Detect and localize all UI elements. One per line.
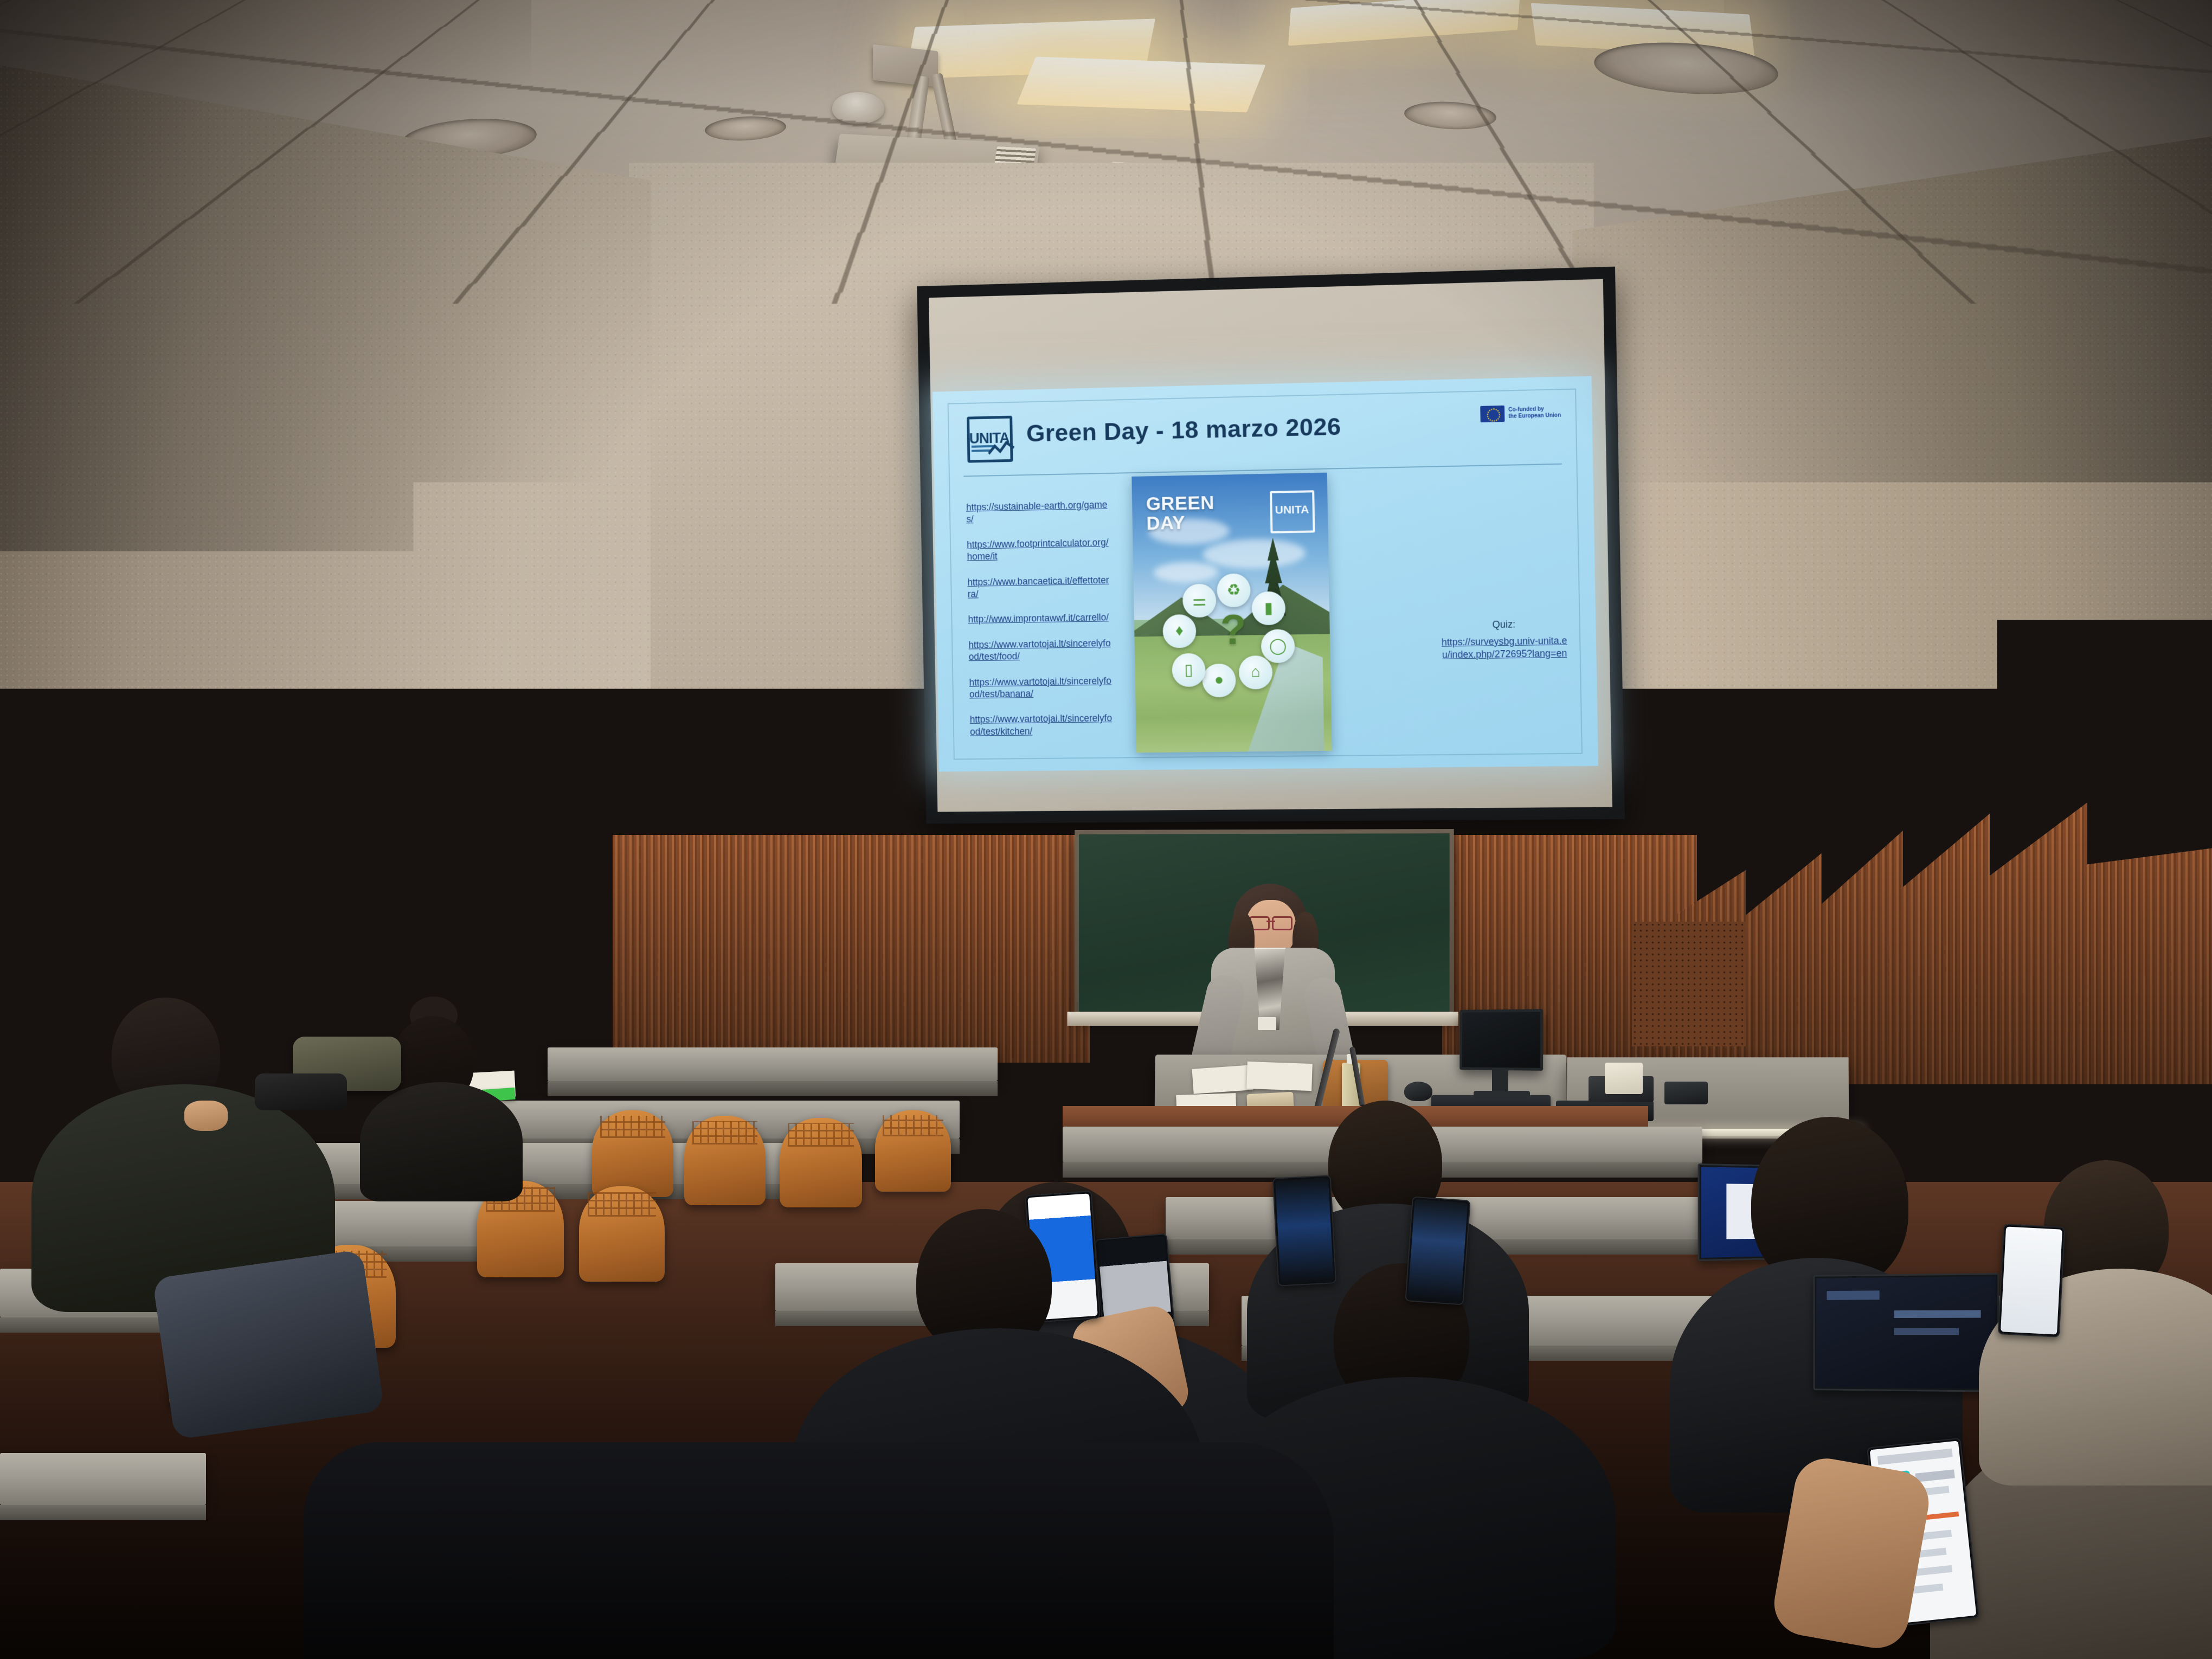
right-wall	[1572, 136, 2212, 927]
emergency-light-icon	[731, 732, 759, 761]
quiz-block: Quiz: https://surveysbg.univ-unita.eu/in…	[1438, 618, 1571, 661]
resource-link[interactable]: https://sustainable-earth.org/games/	[966, 499, 1109, 525]
quiz-label: Quiz:	[1438, 618, 1571, 632]
auditorium-seat[interactable]	[579, 1186, 665, 1282]
lecture-hall-photo: EPSON VIETATO FUMARE NO SMOKING UNITA	[0, 0, 2212, 1659]
auditorium-seat[interactable]	[780, 1118, 862, 1207]
presentation-slide: UNITA Green Day - 18 marzo 2026 Co-funde…	[933, 376, 1598, 772]
wall-grille	[1632, 922, 1746, 1046]
unita-logo: UNITA	[967, 416, 1013, 463]
trash-bin-icon: ▮	[1251, 591, 1285, 625]
smoke-detector-icon	[832, 92, 884, 124]
student-hand	[184, 1101, 228, 1131]
auditorium-seat[interactable]	[684, 1116, 766, 1205]
resource-link[interactable]: https://www.bancaetica.it/effettoterra/	[967, 574, 1110, 600]
bicycle-icon: ◯	[1261, 629, 1295, 663]
paper-sheet	[1192, 1065, 1253, 1094]
house-icon: ⌂	[1239, 655, 1273, 690]
power-adapter	[1664, 1082, 1708, 1104]
water-drop-icon: ♦	[1162, 614, 1197, 648]
eco-icon-cluster: ♻ ▮ ◯ ⌂ ● ▯ ♦ ⚌ ?	[1171, 573, 1297, 693]
projection-screen: UNITA Green Day - 18 marzo 2026 Co-funde…	[917, 267, 1625, 824]
foreground-student	[1225, 1345, 1713, 1659]
auditorium-seat[interactable]	[592, 1110, 673, 1197]
desktop-monitor	[1459, 1009, 1543, 1071]
eyeglasses-icon	[1249, 916, 1293, 927]
poster-unita-logo: UNITA	[1270, 490, 1315, 533]
poster-title-line1: GREEN	[1146, 493, 1215, 514]
left-wall	[0, 65, 651, 889]
quiz-link[interactable]: https://surveysbg.univ-unita.eu/index.ph…	[1438, 634, 1571, 661]
ceiling-panel-light	[1017, 57, 1265, 113]
resource-link-list: https://sustainable-earth.org/games/ htt…	[966, 499, 1113, 751]
green-day-poster: GREEN DAY UNITA ♻ ▮ ◯ ⌂ ● ▯ ♦ ⚌	[1131, 473, 1332, 753]
foreground-student	[304, 1442, 1334, 1659]
recycle-icon: ♻	[1217, 573, 1251, 607]
pencil-case	[255, 1073, 347, 1110]
poster-unita-text: UNITA	[1275, 503, 1309, 517]
lightbulb-icon: ●	[1202, 663, 1236, 697]
question-mark-icon: ?	[1213, 609, 1253, 655]
student-phone[interactable]	[1405, 1196, 1470, 1305]
no-smoking-icon	[123, 795, 169, 837]
poster-title-line2: DAY	[1146, 512, 1215, 533]
wind-turbine-icon: ⚌	[1182, 583, 1217, 618]
computer-mouse[interactable]	[1404, 1082, 1432, 1101]
eu-cofunding-logo: Co-funded by the European Union	[1480, 404, 1561, 422]
lecturer	[1201, 884, 1342, 1079]
wood-slat-panel-center	[613, 835, 1090, 1063]
screen-surface: UNITA Green Day - 18 marzo 2026 Co-funde…	[929, 279, 1612, 812]
battery-icon: ▯	[1172, 653, 1206, 687]
poster-title: GREEN DAY	[1146, 493, 1215, 533]
auditorium-seat[interactable]	[875, 1110, 951, 1192]
resource-link[interactable]: http://www.improntawwf.it/carrello/	[968, 612, 1110, 626]
resource-link[interactable]: https://www.vartotojai.lt/sincerelyfood/…	[968, 637, 1111, 663]
resource-link[interactable]: https://www.vartotojai.lt/sincerelyfood/…	[970, 712, 1113, 737]
student-desk	[0, 1453, 206, 1505]
unita-zigzag-icon	[988, 440, 1015, 457]
resource-link[interactable]: https://www.vartotojai.lt/sincerelyfood/…	[969, 674, 1112, 700]
lecturer-badge	[1258, 1017, 1276, 1030]
eu-funding-line-2: the European Union	[1508, 413, 1561, 421]
desk-plaque	[1605, 1063, 1643, 1094]
student-phone[interactable]	[1998, 1224, 2066, 1338]
student	[69, 998, 297, 1258]
student-legs	[152, 1249, 384, 1439]
resource-link[interactable]: https://www.footprintcalculator.org/home…	[967, 536, 1109, 563]
paper-sheet	[1246, 1062, 1313, 1091]
eu-flag-icon	[1480, 406, 1504, 422]
student-desk	[548, 1047, 998, 1081]
